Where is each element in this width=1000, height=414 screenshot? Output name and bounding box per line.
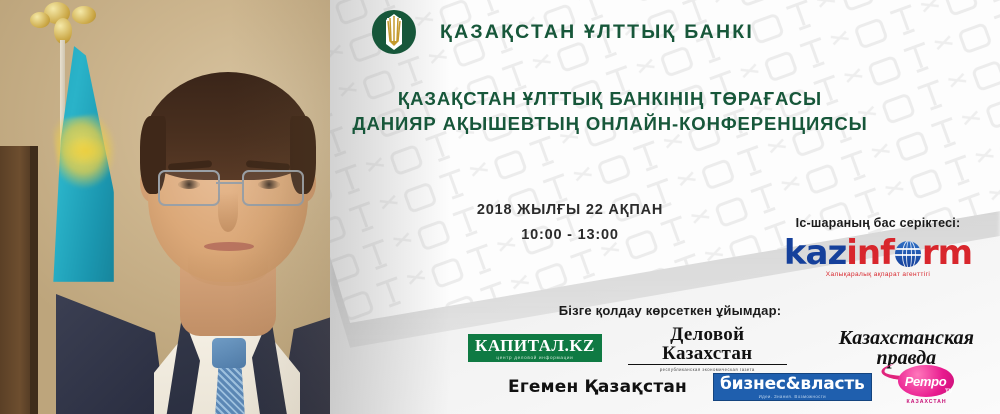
logo-kapital-kz-name: КАПИТАЛ.KZ [475, 337, 595, 354]
event-date: 2018 ЖЫЛҒЫ 22 АҚПАН [330, 198, 810, 223]
door-edge [30, 146, 38, 414]
conference-title-line2: ДАНИЯР АҚЫШЕВТЫҢ ОНЛАЙН-КОНФЕРЕНЦИЯСЫ [330, 111, 890, 136]
logo-biznes-vlast-name: бизнес&власть [720, 376, 865, 393]
national-bank-kazakhstan-emblem [370, 8, 418, 56]
content-panel: ҚАЗАҚСТАН ҰЛТТЫҚ БАНКІ ҚАЗАҚСТАН ҰЛТТЫҚ … [330, 0, 1000, 414]
event-datetime: 2018 ЖЫЛҒЫ 22 АҚПАН 10:00 - 13:00 [330, 198, 810, 248]
kazinform-logo[interactable]: kazinfrm [760, 236, 996, 270]
bank-header: ҚАЗАҚСТАН ҰЛТТЫҚ БАНКІ [370, 8, 754, 56]
logo-retro-tv[interactable]: Ретро TV КАЗАХСТАН [898, 365, 956, 409]
kazinform-logo-rm: rm [922, 233, 972, 273]
general-partner-block: Іс-шараның бас серіктесі: kazinfrm Халық… [760, 216, 996, 278]
supporter-logos: КАПИТАЛ.KZ центр деловой информации Дело… [460, 325, 1000, 411]
conference-title-line1: ҚАЗАҚСТАН ҰЛТТЫҚ БАНКІНІҢ ТӨРАҒАСЫ [330, 86, 890, 111]
globe-icon [895, 241, 921, 267]
supporter-logo-row-2: Егемен Қазақстан бизнес&власть Идеи. Зна… [508, 365, 956, 409]
event-time: 10:00 - 13:00 [330, 223, 810, 248]
logo-retro-tv-name: Ретро [905, 374, 947, 389]
logo-biznes-vlast-subtitle: Идеи. Знания. Возможности [720, 394, 865, 399]
kazinform-logo-kaz: kaz [784, 233, 846, 273]
bank-title: ҚАЗАҚСТАН ҰЛТТЫҚ БАНКІ [440, 21, 754, 44]
logo-kazakhstanskaya-pravda-name: Казахстанская правда [813, 328, 1000, 368]
logo-kapital-kz-subtitle: центр деловой информации [475, 355, 595, 360]
logo-kazakhstanskaya-pravda[interactable]: Казахстанская правда [813, 328, 1000, 368]
conference-announcement-banner: ҚАЗАҚСТАН ҰЛТТЫҚ БАНКІ ҚАЗАҚСТАН ҰЛТТЫҚ … [0, 0, 1000, 414]
conference-title: ҚАЗАҚСТАН ҰЛТТЫҚ БАНКІНІҢ ТӨРАҒАСЫ ДАНИЯ… [330, 86, 890, 136]
general-partner-label: Іс-шараның бас серіктесі: [760, 216, 996, 230]
supporters-label: Бізге қолдау көрсеткен ұйымдар: [470, 303, 870, 318]
logo-retro-tv-subtitle: КАЗАХСТАН [898, 399, 956, 405]
logo-retro-tv-badge: TV [945, 389, 953, 395]
kazinform-logo-inf: inf [846, 233, 894, 273]
logo-kapital-kz[interactable]: КАПИТАЛ.KZ центр деловой информации [468, 334, 602, 362]
logo-delovoy-kazakhstan-name: Деловой Казахстан [628, 325, 787, 365]
logo-biznes-vlast[interactable]: бизнес&власть Идеи. Знания. Возможности [713, 373, 872, 401]
flag-finial-icon [28, 0, 102, 52]
logo-egemen-qazaqstan[interactable]: Егемен Қазақстан [508, 377, 687, 397]
retro-tv-bubble-icon: Ретро TV [898, 365, 954, 397]
